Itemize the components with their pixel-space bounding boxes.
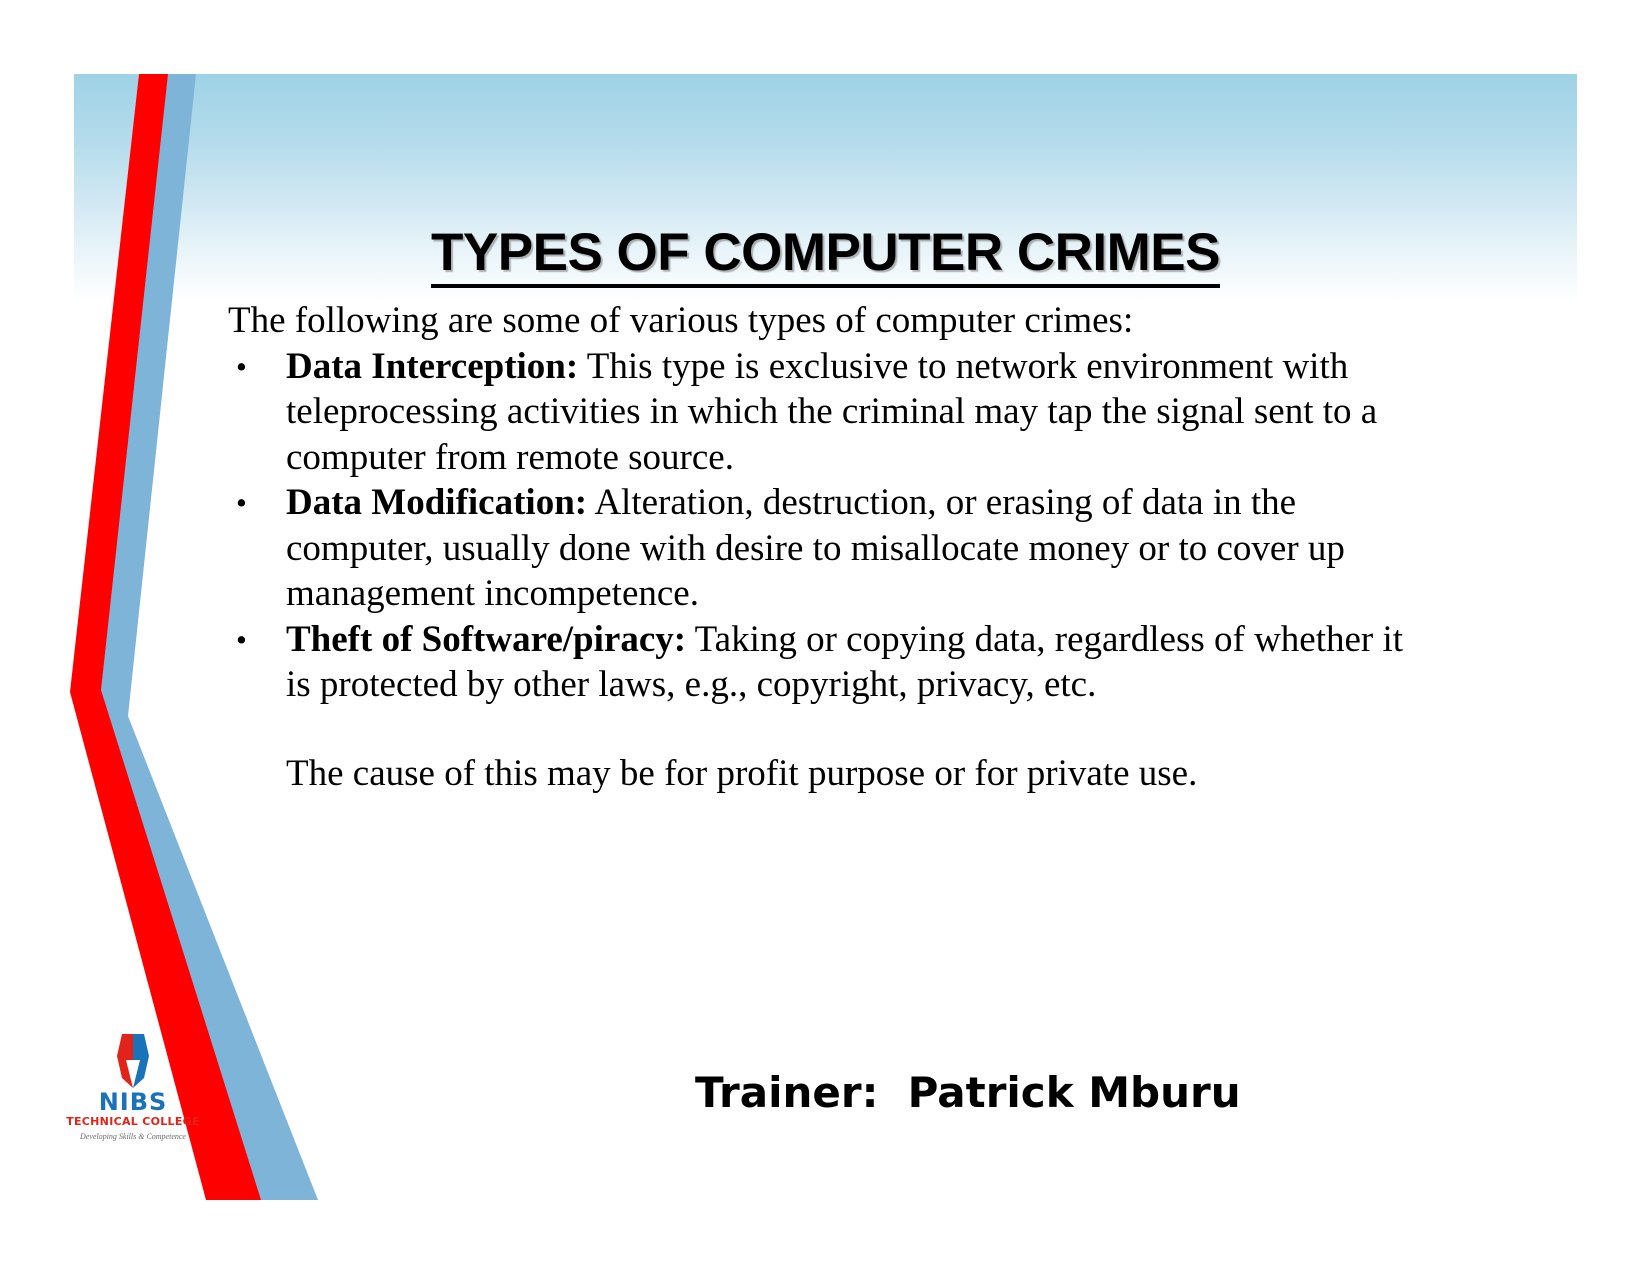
slide-canvas: TYPES OF COMPUTER CRIMES The following a…	[0, 0, 1650, 1275]
page-title-text: TYPES OF COMPUTER CRIMES	[431, 224, 1220, 288]
slide-body: The following are some of various types …	[228, 298, 1428, 796]
nibs-logo-mark-icon	[108, 1030, 158, 1092]
logo-subtitle: TECHNICAL COLLEGE	[58, 1115, 208, 1128]
crime-types-list: • Data Interception: This type is exclus…	[228, 344, 1428, 708]
logo-blue-half	[133, 1034, 149, 1088]
closing-line: The cause of this may be for profit purp…	[286, 751, 1428, 797]
bullet-dot-icon: •	[236, 344, 247, 390]
logo-name: NIBS	[58, 1090, 208, 1115]
bullet-term: Data Interception:	[286, 346, 578, 387]
logo-tagline: Developing Skills & Competence	[58, 1131, 208, 1143]
logo-red-half	[117, 1034, 133, 1088]
bullet-dot-icon: •	[236, 480, 247, 526]
list-item: • Data Interception: This type is exclus…	[228, 344, 1428, 481]
nibs-logo: NIBS TECHNICAL COLLEGE Developing Skills…	[58, 1030, 208, 1143]
intro-line: The following are some of various types …	[228, 298, 1428, 344]
bullet-dot-icon: •	[236, 617, 247, 663]
bullet-term: Theft of Software/piracy:	[286, 619, 686, 660]
list-item: • Theft of Software/piracy: Taking or co…	[228, 617, 1428, 708]
trainer-credit: Trainer: Patrick Mburu	[695, 1068, 1241, 1118]
bullet-term: Data Modification:	[286, 482, 587, 523]
page-title: TYPES OF COMPUTER CRIMES	[74, 224, 1577, 288]
list-item: • Data Modification: Alteration, destruc…	[228, 480, 1428, 617]
